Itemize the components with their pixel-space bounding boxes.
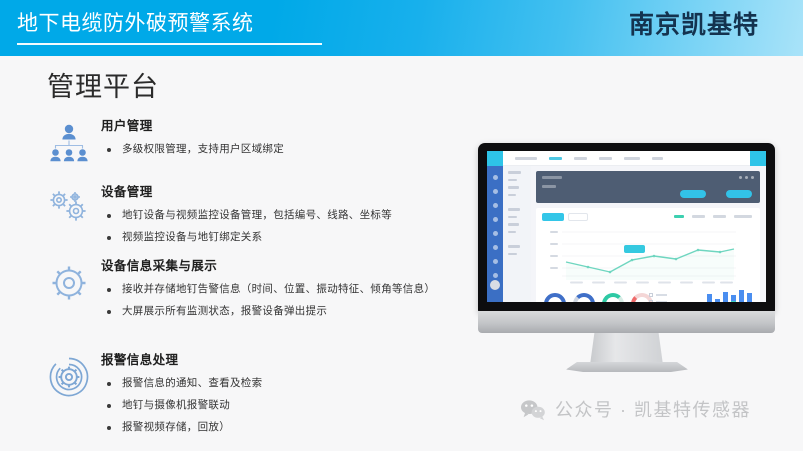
header-title-underline (17, 43, 322, 45)
feature-section-body: 设备管理 地钉设备与视频监控设备管理，包括编号、线路、坐标等 视频监控设备与地钉… (101, 184, 392, 245)
sidebar-icon (493, 245, 498, 250)
sidebar-icon (493, 273, 498, 278)
sidebar-badge-icon (490, 280, 500, 290)
monitor-bezel (478, 143, 775, 312)
monitor-chin (478, 311, 775, 333)
gear-icon (44, 258, 94, 308)
section-title: 设备信息采集与展示 (101, 258, 435, 275)
dashboard-chart-card (536, 208, 760, 302)
bullet-item: 视频监控设备与地钉绑定关系 (101, 230, 392, 245)
bar-column (747, 293, 752, 302)
bullet-text: 视频监控设备与地钉绑定关系 (122, 230, 262, 245)
section-title: 报警信息处理 (101, 352, 262, 369)
dashboard-nav-item (515, 157, 537, 160)
feature-section-user-management: 用户管理 多级权限管理，支持用户区域绑定 (44, 118, 284, 157)
gears-icon (44, 184, 94, 234)
bullet-item: 接收并存储地钉告警信息（时间、位置、振动特征、倾角等信息） (101, 282, 435, 297)
chart-tab-active[interactable] (542, 213, 564, 221)
wechat-account-label: 公众号 · 凯基特传感器 (555, 398, 751, 422)
dashboard-logo-icon (487, 151, 503, 166)
bullet-dot-icon (107, 310, 111, 314)
feature-section-body: 用户管理 多级权限管理，支持用户区域绑定 (101, 118, 284, 157)
feature-section-device-management: 设备管理 地钉设备与视频监控设备管理，包括编号、线路、坐标等 视频监控设备与地钉… (44, 184, 392, 245)
chart-tab-inactive[interactable] (568, 213, 588, 221)
bullet-dot-icon (107, 426, 111, 430)
sidebar-icon (493, 203, 498, 208)
feature-section-body: 报警信息处理 报警信息的通知、查看及检索 地钉与摄像机报警联动 报警视频存储，回… (101, 352, 262, 435)
donut-gauge (573, 293, 595, 302)
bullet-item: 大屏展示所有监测状态，报警设备弹出提示 (101, 304, 435, 319)
bullet-dot-icon (107, 148, 111, 152)
panel-primary-button[interactable] (680, 190, 706, 198)
dashboard-header-panel (536, 171, 760, 203)
feature-section-body: 设备信息采集与展示 接收并存储地钉告警信息（时间、位置、振动特征、倾角等信息） … (101, 258, 435, 319)
sidebar-icon (493, 189, 498, 194)
bullet-item: 报警视频存储，回放） (101, 420, 262, 435)
bar-chart (707, 288, 752, 302)
desktop-monitor-dashboard-mockup (478, 143, 775, 339)
dashboard-nav-item (652, 157, 663, 160)
wechat-icon (520, 399, 546, 421)
bullet-dot-icon (107, 214, 111, 218)
bullet-item: 多级权限管理，支持用户区域绑定 (101, 142, 284, 157)
line-chart (548, 226, 738, 284)
monitor-stand-neck (590, 333, 663, 365)
dashboard-topbar (487, 151, 766, 166)
bullet-item: 地钉与摄像机报警联动 (101, 398, 262, 413)
dashboard-nav-item-active (549, 157, 562, 160)
dashboard-nav-item (574, 157, 587, 160)
slide-header: 地下电缆防外破预警系统 南京凯基特 (0, 0, 803, 56)
bullet-text: 大屏展示所有监测状态，报警设备弹出提示 (122, 304, 327, 319)
bullet-text: 多级权限管理，支持用户区域绑定 (122, 142, 284, 157)
dashboard-sidebar (487, 166, 503, 302)
sidebar-icon (493, 175, 498, 180)
bullet-dot-icon (107, 404, 111, 408)
wechat-footer: 公众号 · 凯基特传感器 (520, 398, 751, 422)
bar-column (731, 295, 736, 302)
dashboard-main-area (531, 166, 766, 302)
bar-column (707, 294, 712, 302)
dashboard-secondary-sidebar (503, 166, 531, 302)
section-title: 设备管理 (101, 184, 392, 201)
feature-section-alarm-processing: 报警信息处理 报警信息的通知、查看及检索 地钉与摄像机报警联动 报警视频存储，回… (44, 352, 262, 435)
sidebar-icon (493, 217, 498, 222)
donut-gauge (544, 293, 566, 302)
bullet-item: 地钉设备与视频监控设备管理，包括编号、线路、坐标等 (101, 208, 392, 223)
monitor-stand-base (566, 362, 688, 372)
chart-legend (674, 215, 752, 218)
panel-window-dots-icon (739, 176, 754, 179)
donut-gauge (602, 293, 624, 302)
bar-column (739, 290, 744, 302)
bullet-text: 地钉与摄像机报警联动 (122, 398, 230, 413)
company-brand: 南京凯基特 (629, 11, 759, 41)
bullet-text: 报警信息的通知、查看及检索 (122, 376, 262, 391)
bullet-dot-icon (107, 382, 111, 386)
dashboard-nav-item (624, 157, 640, 160)
bullet-dot-icon (107, 288, 111, 292)
bullet-text: 地钉设备与视频监控设备管理，包括编号、线路、坐标等 (122, 208, 392, 223)
sidebar-icon (493, 231, 498, 236)
org-chart-users-icon (44, 118, 94, 168)
dashboard-nav-item (599, 157, 612, 160)
slide-root: 地下电缆防外破预警系统 南京凯基特 管理平台 (0, 0, 803, 451)
dashboard-user-avatar (750, 151, 766, 166)
bar-column (715, 299, 720, 302)
feature-section-device-info-collection: 设备信息采集与展示 接收并存储地钉告警信息（时间、位置、振动特征、倾角等信息） … (44, 258, 435, 319)
sidebar-icon (493, 259, 498, 264)
header-title: 地下电缆防外破预警系统 (17, 9, 254, 39)
gauge-group (544, 293, 653, 302)
page-title: 管理平台 (47, 68, 159, 106)
gauge-legend (649, 293, 667, 302)
panel-secondary-button[interactable] (726, 190, 752, 198)
bullet-item: 报警信息的通知、查看及检索 (101, 376, 262, 391)
section-title: 用户管理 (101, 118, 284, 135)
bullet-text: 报警视频存储，回放） (122, 420, 230, 435)
monitor-screen (487, 151, 766, 302)
bar-column (723, 292, 728, 302)
bullet-text: 接收并存储地钉告警信息（时间、位置、振动特征、倾角等信息） (122, 282, 435, 297)
bullet-dot-icon (107, 236, 111, 240)
gear-target-icon (44, 352, 94, 402)
